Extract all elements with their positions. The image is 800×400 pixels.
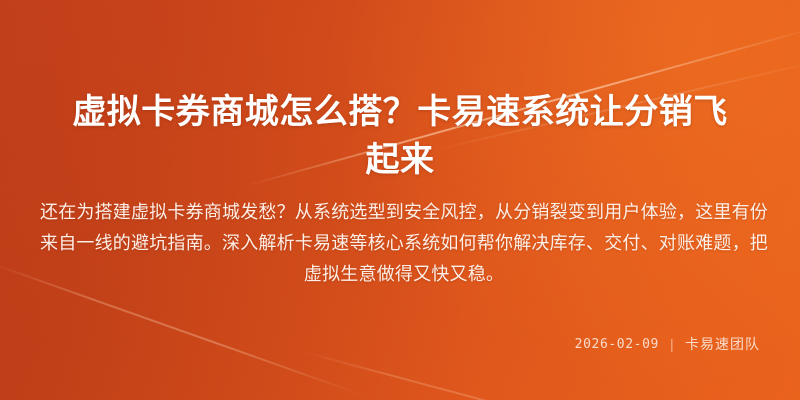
author-name: 卡易速团队 bbox=[685, 334, 760, 354]
publish-date: 2026-02-09 bbox=[575, 337, 659, 352]
poster-title: 虚拟卡券商城怎么搭？卡易速系统让分销飞起来 bbox=[60, 88, 740, 184]
footer-separator: | bbox=[670, 337, 674, 351]
poster-banner: 虚拟卡券商城怎么搭？卡易速系统让分销飞起来 还在为搭建虚拟卡券商城发愁？从系统选… bbox=[0, 0, 800, 400]
poster-summary: 还在为搭建虚拟卡券商城发愁？从系统选型到安全风控，从分销裂变到用户体验，这里有份… bbox=[40, 197, 768, 290]
poster-content: 虚拟卡券商城怎么搭？卡易速系统让分销飞起来 还在为搭建虚拟卡券商城发愁？从系统选… bbox=[0, 0, 800, 400]
poster-footer: 2026-02-09 | 卡易速团队 bbox=[575, 334, 760, 354]
